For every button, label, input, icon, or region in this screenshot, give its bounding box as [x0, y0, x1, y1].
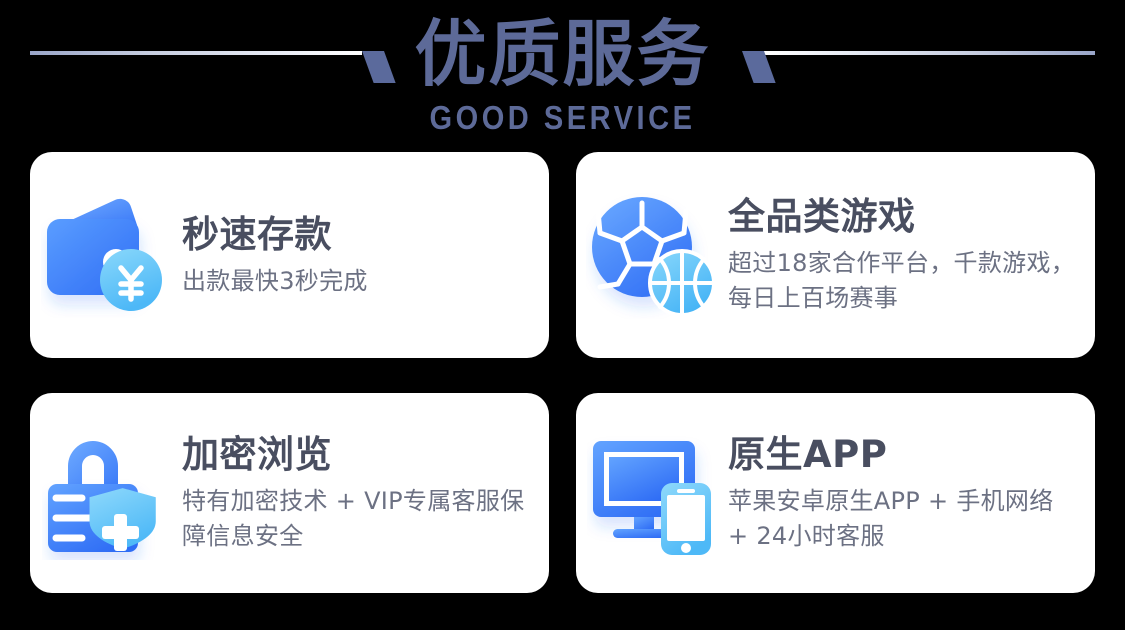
feature-card-grid: 秒速存款 出款最快3秒完成 — [30, 152, 1095, 602]
soccer-basketball-icon-svg — [586, 191, 718, 319]
feature-card-native-app[interactable]: 原生APP 苹果安卓原生APP + 手机网络 + 24小时客服 — [576, 393, 1095, 593]
monitor-phone-icon — [576, 393, 728, 593]
card-description: 苹果安卓原生APP + 手机网络 + 24小时客服 — [728, 484, 1079, 554]
feature-card-deposit-text: 秒速存款 出款最快3秒完成 — [182, 212, 549, 299]
lock-shield-icon — [30, 393, 182, 593]
card-description: 出款最快3秒完成 — [182, 264, 533, 299]
card-title: 原生APP — [728, 432, 1079, 478]
page-subtitle: GOOD SERVICE — [68, 100, 1058, 136]
page-title: 优质服务 — [0, 12, 1125, 96]
feature-card-games[interactable]: 全品类游戏 超过18家合作平台，千款游戏，每日上百场赛事 — [576, 152, 1095, 358]
lock-shield-icon-svg — [42, 426, 170, 560]
soccer-basketball-icon — [576, 152, 728, 358]
feature-card-encryption-text: 加密浏览 特有加密技术 + VIP专属客服保障信息安全 — [182, 432, 549, 554]
page-header: 优质服务 GOOD SERVICE — [0, 0, 1125, 146]
card-title: 全品类游戏 — [728, 194, 1079, 240]
feature-card-native-app-text: 原生APP 苹果安卓原生APP + 手机网络 + 24小时客服 — [728, 432, 1095, 554]
feature-card-games-text: 全品类游戏 超过18家合作平台，千款游戏，每日上百场赛事 — [728, 194, 1095, 316]
card-description: 超过18家合作平台，千款游戏，每日上百场赛事 — [728, 246, 1079, 316]
card-title: 加密浏览 — [182, 432, 533, 478]
monitor-phone-icon-svg — [587, 429, 717, 557]
card-description: 特有加密技术 + VIP专属客服保障信息安全 — [182, 484, 533, 554]
feature-card-deposit[interactable]: 秒速存款 出款最快3秒完成 — [30, 152, 549, 358]
wallet-yen-icon-svg — [41, 192, 171, 318]
card-title: 秒速存款 — [182, 212, 533, 258]
page-root: 优质服务 GOOD SERVICE — [0, 0, 1125, 630]
feature-card-encryption[interactable]: 加密浏览 特有加密技术 + VIP专属客服保障信息安全 — [30, 393, 549, 593]
wallet-yen-icon — [30, 152, 182, 358]
